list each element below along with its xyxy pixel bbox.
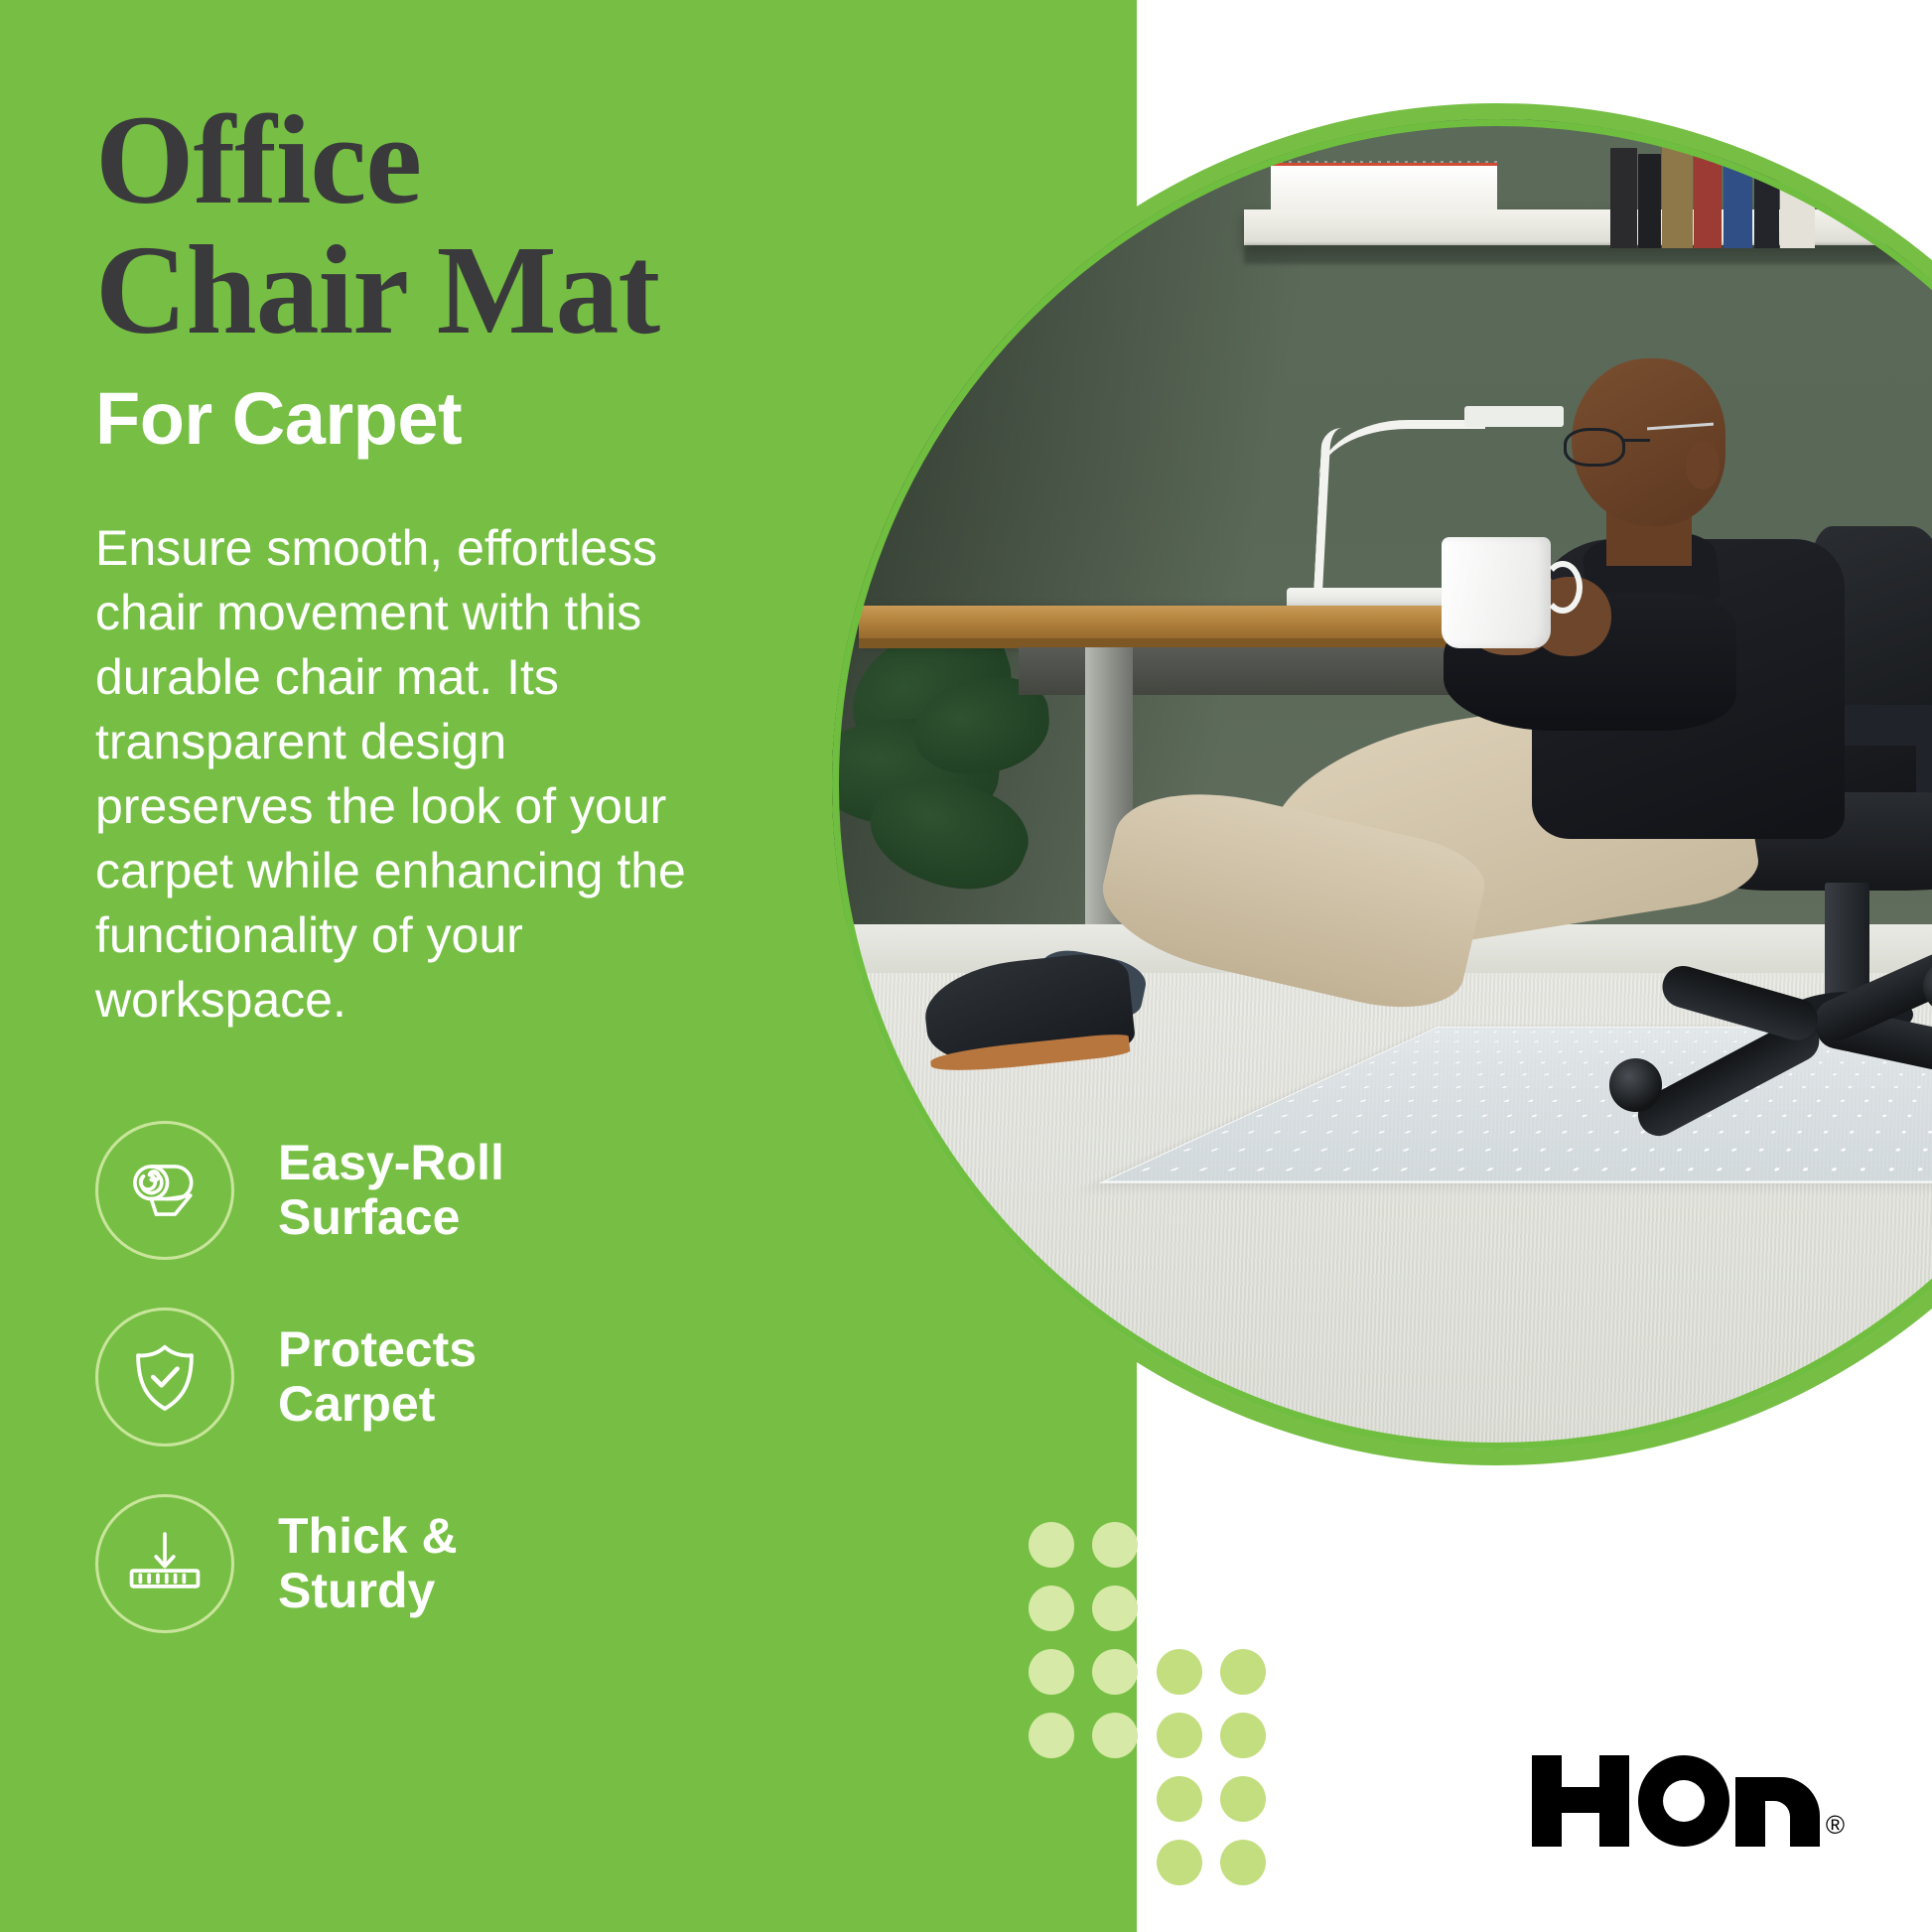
hon-logo: ®	[1532, 1747, 1845, 1855]
dot	[1157, 1776, 1202, 1822]
dot	[1092, 1649, 1138, 1695]
dot	[1092, 1713, 1138, 1758]
dot	[1029, 1522, 1074, 1568]
dot	[1029, 1713, 1074, 1758]
dot	[1157, 1840, 1202, 1885]
decorative-dot-grid	[0, 0, 1932, 1932]
dot	[1220, 1840, 1266, 1885]
hon-wordmark-icon	[1532, 1747, 1820, 1855]
dot	[1092, 1586, 1138, 1631]
dot	[1157, 1713, 1202, 1758]
registered-trademark: ®	[1826, 1810, 1845, 1841]
dot	[1220, 1713, 1266, 1758]
dot	[1029, 1586, 1074, 1631]
dot	[1092, 1522, 1138, 1568]
dot	[1220, 1649, 1266, 1695]
dot	[1220, 1776, 1266, 1822]
dot	[1029, 1649, 1074, 1695]
dot	[1157, 1649, 1202, 1695]
